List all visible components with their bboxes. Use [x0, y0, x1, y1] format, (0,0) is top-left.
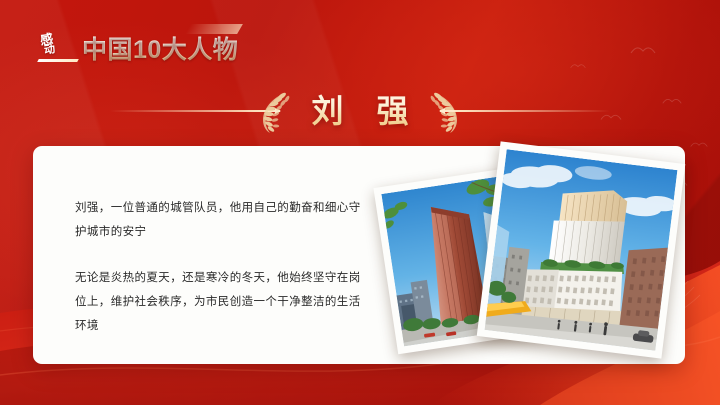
rule-bar — [440, 110, 610, 112]
logo-seal-icon: 感 动 — [38, 29, 82, 69]
bird-silhouette-icon — [690, 140, 708, 149]
photo-white-tower[interactable] — [477, 141, 686, 358]
logo-text: 中国10大人物 — [82, 30, 238, 70]
body-text: 刘强，一位普通的城管队员，他用自己的勤奋和细心守护城市的安宁 无论是炎热的夏天，… — [75, 196, 363, 338]
logo-flick-decoration — [185, 24, 243, 34]
bird-silhouette-icon — [570, 62, 586, 70]
page-title: 刘 强 — [0, 82, 720, 140]
logo-seal-char-bottom: 动 — [43, 40, 56, 57]
logo-slash-decoration — [37, 59, 79, 62]
rule-arrow-tip — [439, 108, 445, 114]
photo-image — [485, 149, 678, 351]
arrow-line-left-icon — [440, 110, 610, 112]
paragraph: 无论是炎热的夏天，还是寒冷的冬天，他始终坚守在岗位上，维护社会秩序，为市民创造一… — [75, 266, 363, 338]
paragraph: 刘强，一位普通的城管队员，他用自己的勤奋和细心守护城市的安宁 — [75, 196, 363, 244]
bird-silhouette-icon — [630, 44, 656, 56]
laurel-branch-icon — [428, 90, 462, 134]
brand-logo: 感 动 中国10大人物 — [34, 28, 234, 72]
content-card: 刘强，一位普通的城管队员，他用自己的勤奋和细心守护城市的安宁 无论是炎热的夏天，… — [33, 146, 685, 364]
slide-canvas: 感 动 中国10大人物 — [0, 0, 720, 405]
headline-block: 刘 强 — [0, 82, 720, 140]
